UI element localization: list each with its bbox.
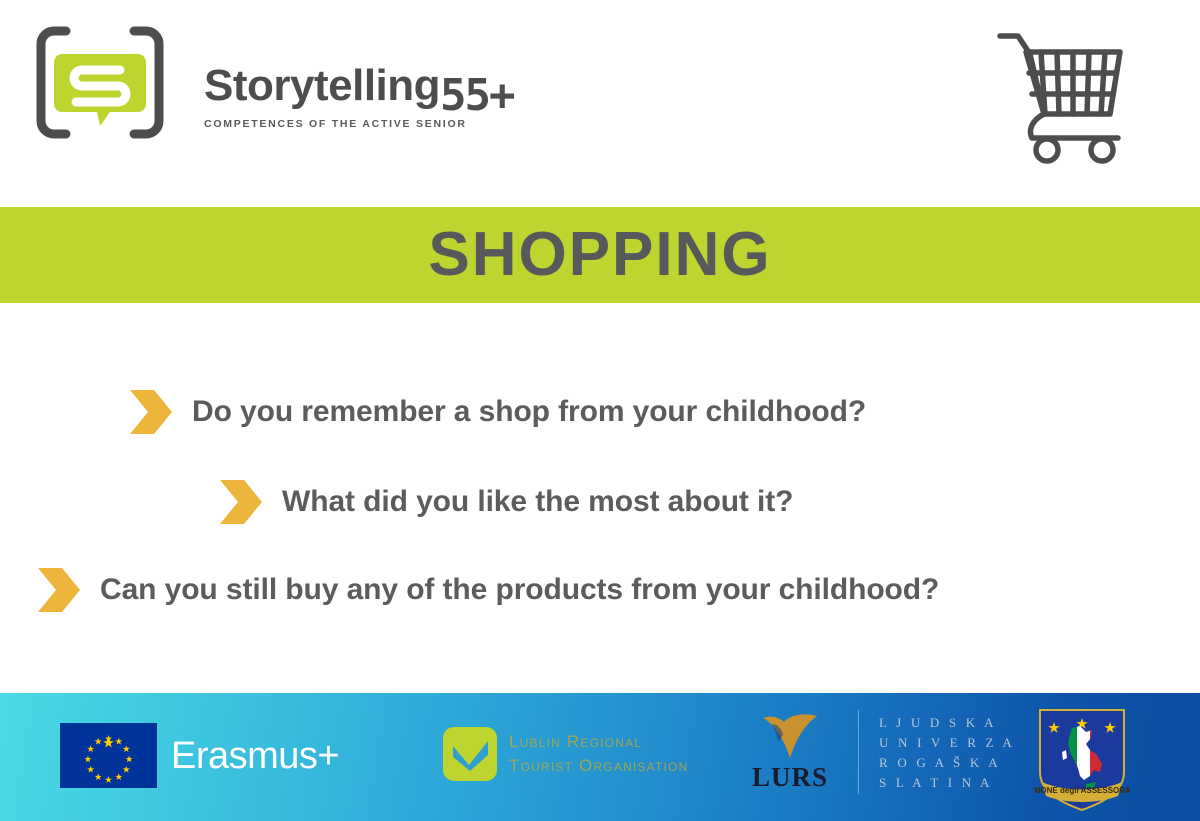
question-row: What did you like the most about it? bbox=[218, 478, 793, 526]
brand-name: Storytelling bbox=[204, 60, 440, 112]
lublin-checkmark-icon bbox=[443, 727, 497, 781]
section-banner: SHOPPING bbox=[0, 207, 1200, 303]
lurs-university-line: S L A T I N A bbox=[879, 773, 1015, 792]
chevron-right-icon bbox=[128, 388, 174, 436]
questions-section: Do you remember a shop from your childho… bbox=[0, 303, 1200, 693]
lurs-university-block: L J U D S K A U N I V E R Z A R O G A Š … bbox=[879, 713, 1015, 792]
lurs-university-line: U N I V E R Z A bbox=[879, 733, 1015, 752]
question-text: Do you remember a shop from your childho… bbox=[192, 394, 866, 430]
header-bar: Storytelling 55+ COMPETENCES OF THE ACTI… bbox=[0, 0, 1200, 207]
brand-text-block: Storytelling 55+ COMPETENCES OF THE ACTI… bbox=[168, 60, 528, 144]
speech-bubble-s-logo-icon bbox=[36, 26, 164, 139]
lurs-divider bbox=[858, 710, 859, 794]
lublin-line-2: Tourist Organisation bbox=[509, 755, 688, 777]
chevron-right-icon bbox=[36, 566, 82, 614]
lublin-text-block: Lublin Regional Tourist Organisation bbox=[509, 731, 688, 777]
lurs-mark-block: LURS bbox=[742, 712, 838, 792]
italy-shield-crest-icon: UNIONE degli ASSESSORATI bbox=[1034, 706, 1130, 814]
brand-logo: Storytelling 55+ COMPETENCES OF THE ACTI… bbox=[36, 26, 496, 144]
lublin-line-1: Lublin Regional bbox=[509, 731, 688, 753]
erasmus-label: Erasmus+ bbox=[171, 735, 339, 777]
erasmus-logo: Erasmus+ bbox=[60, 723, 339, 788]
lublin-logo: Lublin Regional Tourist Organisation bbox=[443, 727, 688, 781]
lurs-acronym: LURS bbox=[752, 762, 828, 792]
question-text: Can you still buy any of the products fr… bbox=[100, 572, 939, 608]
crest-banner-text: UNIONE degli ASSESSORATI bbox=[1034, 786, 1130, 795]
shopping-cart-icon bbox=[992, 24, 1138, 164]
brand-suffix: 55+ bbox=[440, 72, 513, 120]
lurs-university-line: L J U D S K A bbox=[879, 713, 1015, 732]
brand-tagline: COMPETENCES OF THE ACTIVE SENIOR bbox=[204, 118, 467, 130]
lurs-university-line: R O G A Š K A bbox=[879, 753, 1015, 772]
eu-flag-icon bbox=[60, 723, 157, 788]
question-row: Can you still buy any of the products fr… bbox=[36, 566, 939, 614]
question-text: What did you like the most about it? bbox=[282, 484, 793, 520]
lurs-logo: LURS L J U D S K A U N I V E R Z A R O G… bbox=[742, 710, 1015, 794]
lurs-v-mark-icon bbox=[759, 712, 821, 760]
page-title: SHOPPING bbox=[428, 222, 771, 288]
chevron-right-icon bbox=[218, 478, 264, 526]
question-row: Do you remember a shop from your childho… bbox=[128, 388, 866, 436]
